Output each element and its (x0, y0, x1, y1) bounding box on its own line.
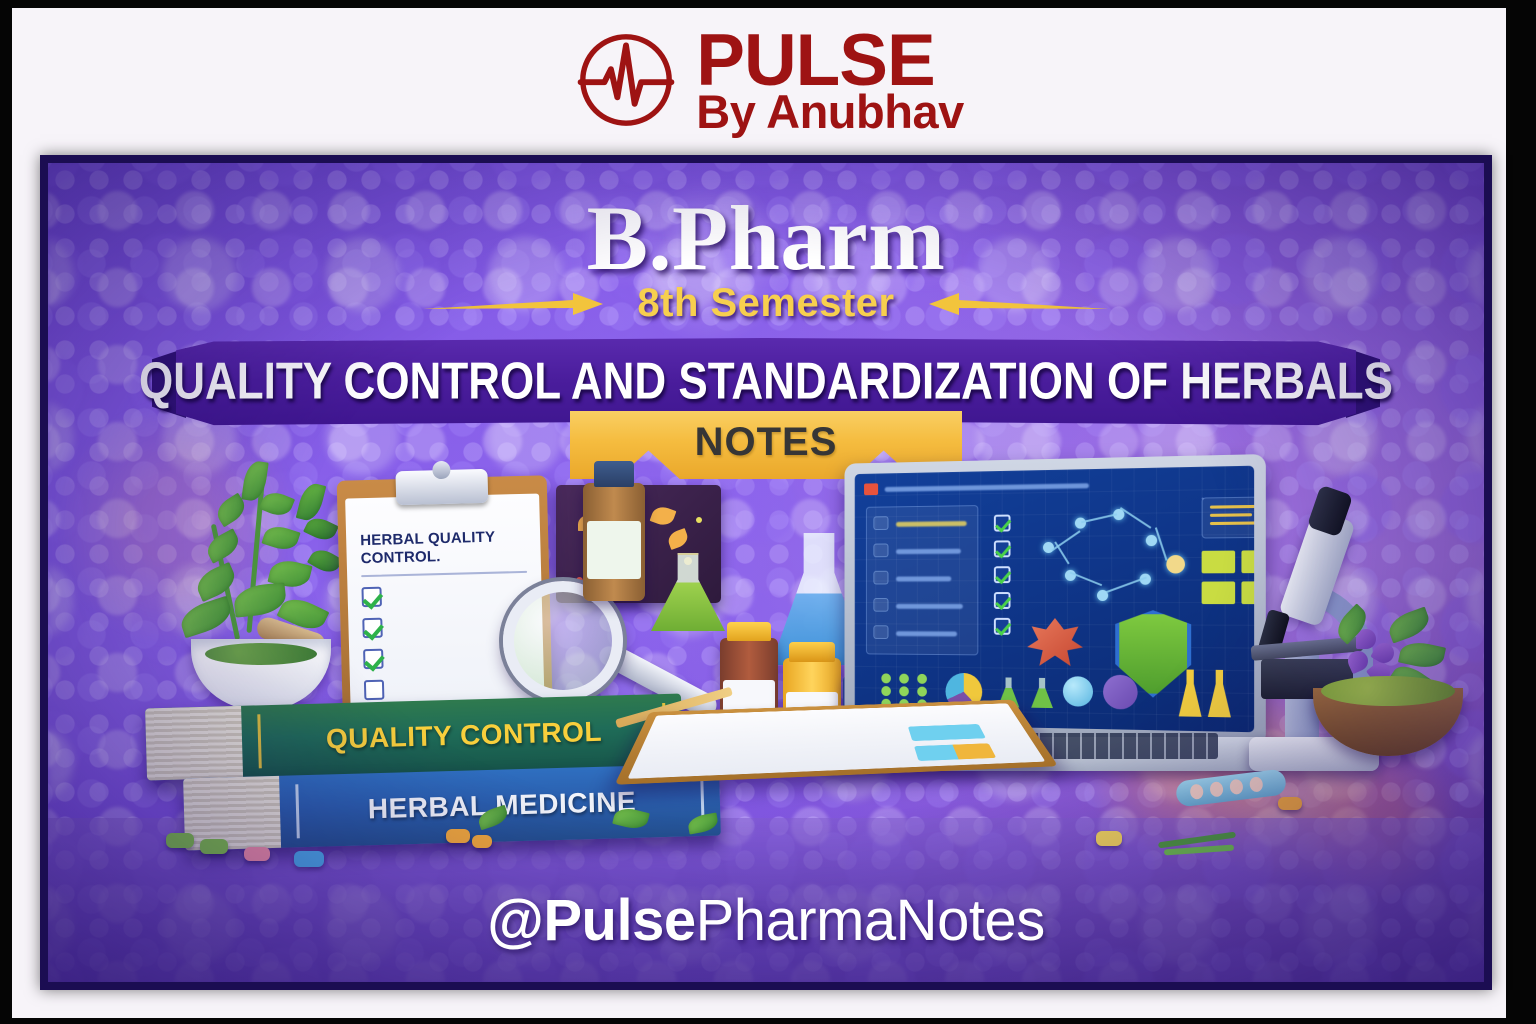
clipboard-title: HERBAL QUALITY CONTROL. (360, 528, 527, 568)
laptop-lid (844, 454, 1265, 746)
app-logo-icon (864, 483, 878, 495)
checklist-item (364, 676, 530, 700)
book-title: QUALITY CONTROL (267, 694, 661, 777)
semester-row: 8th Semester (48, 281, 1484, 326)
checkbox-checked-icon (361, 587, 382, 608)
bottle-cap (727, 622, 771, 641)
screen-topbar (864, 474, 1244, 497)
molecule-ball-icon (1063, 676, 1093, 707)
semester-label: 8th Semester (637, 281, 894, 326)
checklist-text-blurred (388, 583, 527, 587)
checkbox-unchecked-icon (364, 680, 385, 701)
checklist-text-blurred (391, 676, 530, 680)
brand-tagline: By Anubhav (696, 90, 963, 133)
bottle-cap (594, 461, 634, 487)
screen-checkbox-icon (994, 592, 1011, 609)
mortar-contents (205, 643, 317, 665)
handle-light: PharmaNotes (696, 888, 1045, 953)
screenshot-stage: PULSE By Anubhav B.Pharm 8th Semester (0, 0, 1536, 1024)
checkbox-checked-icon (363, 649, 384, 670)
topbar-title-blurred (885, 483, 1089, 492)
book-pages (145, 706, 243, 781)
flat-clipboard-paper (628, 703, 1046, 778)
poster-frame: B.Pharm 8th Semester (40, 155, 1492, 990)
red-leaf-icon (1027, 618, 1083, 670)
social-handle: @PulsePharmaNotes (48, 887, 1484, 954)
flask-icon (1031, 678, 1053, 708)
poster-canvas: B.Pharm 8th Semester (48, 163, 1484, 982)
screen-checkbox-icon (994, 618, 1011, 635)
clipboard-clip-icon (395, 469, 488, 505)
brand-header: PULSE By Anubhav (0, 10, 1536, 150)
screen-checkbox-icon (994, 515, 1011, 532)
checkbox-checked-icon (362, 618, 383, 639)
book-pages (183, 776, 281, 851)
screen-checkbox-icon (994, 540, 1011, 557)
arrow-right-flourish-icon (909, 291, 1109, 317)
screen-checkbox-icon (994, 566, 1011, 583)
pulse-heartbeat-circle-icon (572, 26, 680, 134)
clipboard-divider (361, 571, 527, 577)
screen-checklist (994, 515, 1011, 635)
paper-chart-chip (908, 724, 986, 741)
brand-name: PULSE (696, 27, 963, 94)
molecule-diagram (855, 466, 1254, 474)
laptop-screen (855, 466, 1254, 733)
checklist-item (361, 583, 527, 607)
course-title: B.Pharm (48, 185, 1484, 291)
beaker-pair-icon (1179, 663, 1237, 717)
dropper-bottle (583, 483, 645, 601)
mortar-bowl (191, 639, 331, 711)
badge-icon (1103, 675, 1138, 710)
arrow-left-flourish-icon (423, 291, 623, 317)
paper-chart-chip (914, 743, 996, 761)
bottle-label (587, 521, 642, 579)
handle-bold: @Pulse (487, 888, 695, 953)
